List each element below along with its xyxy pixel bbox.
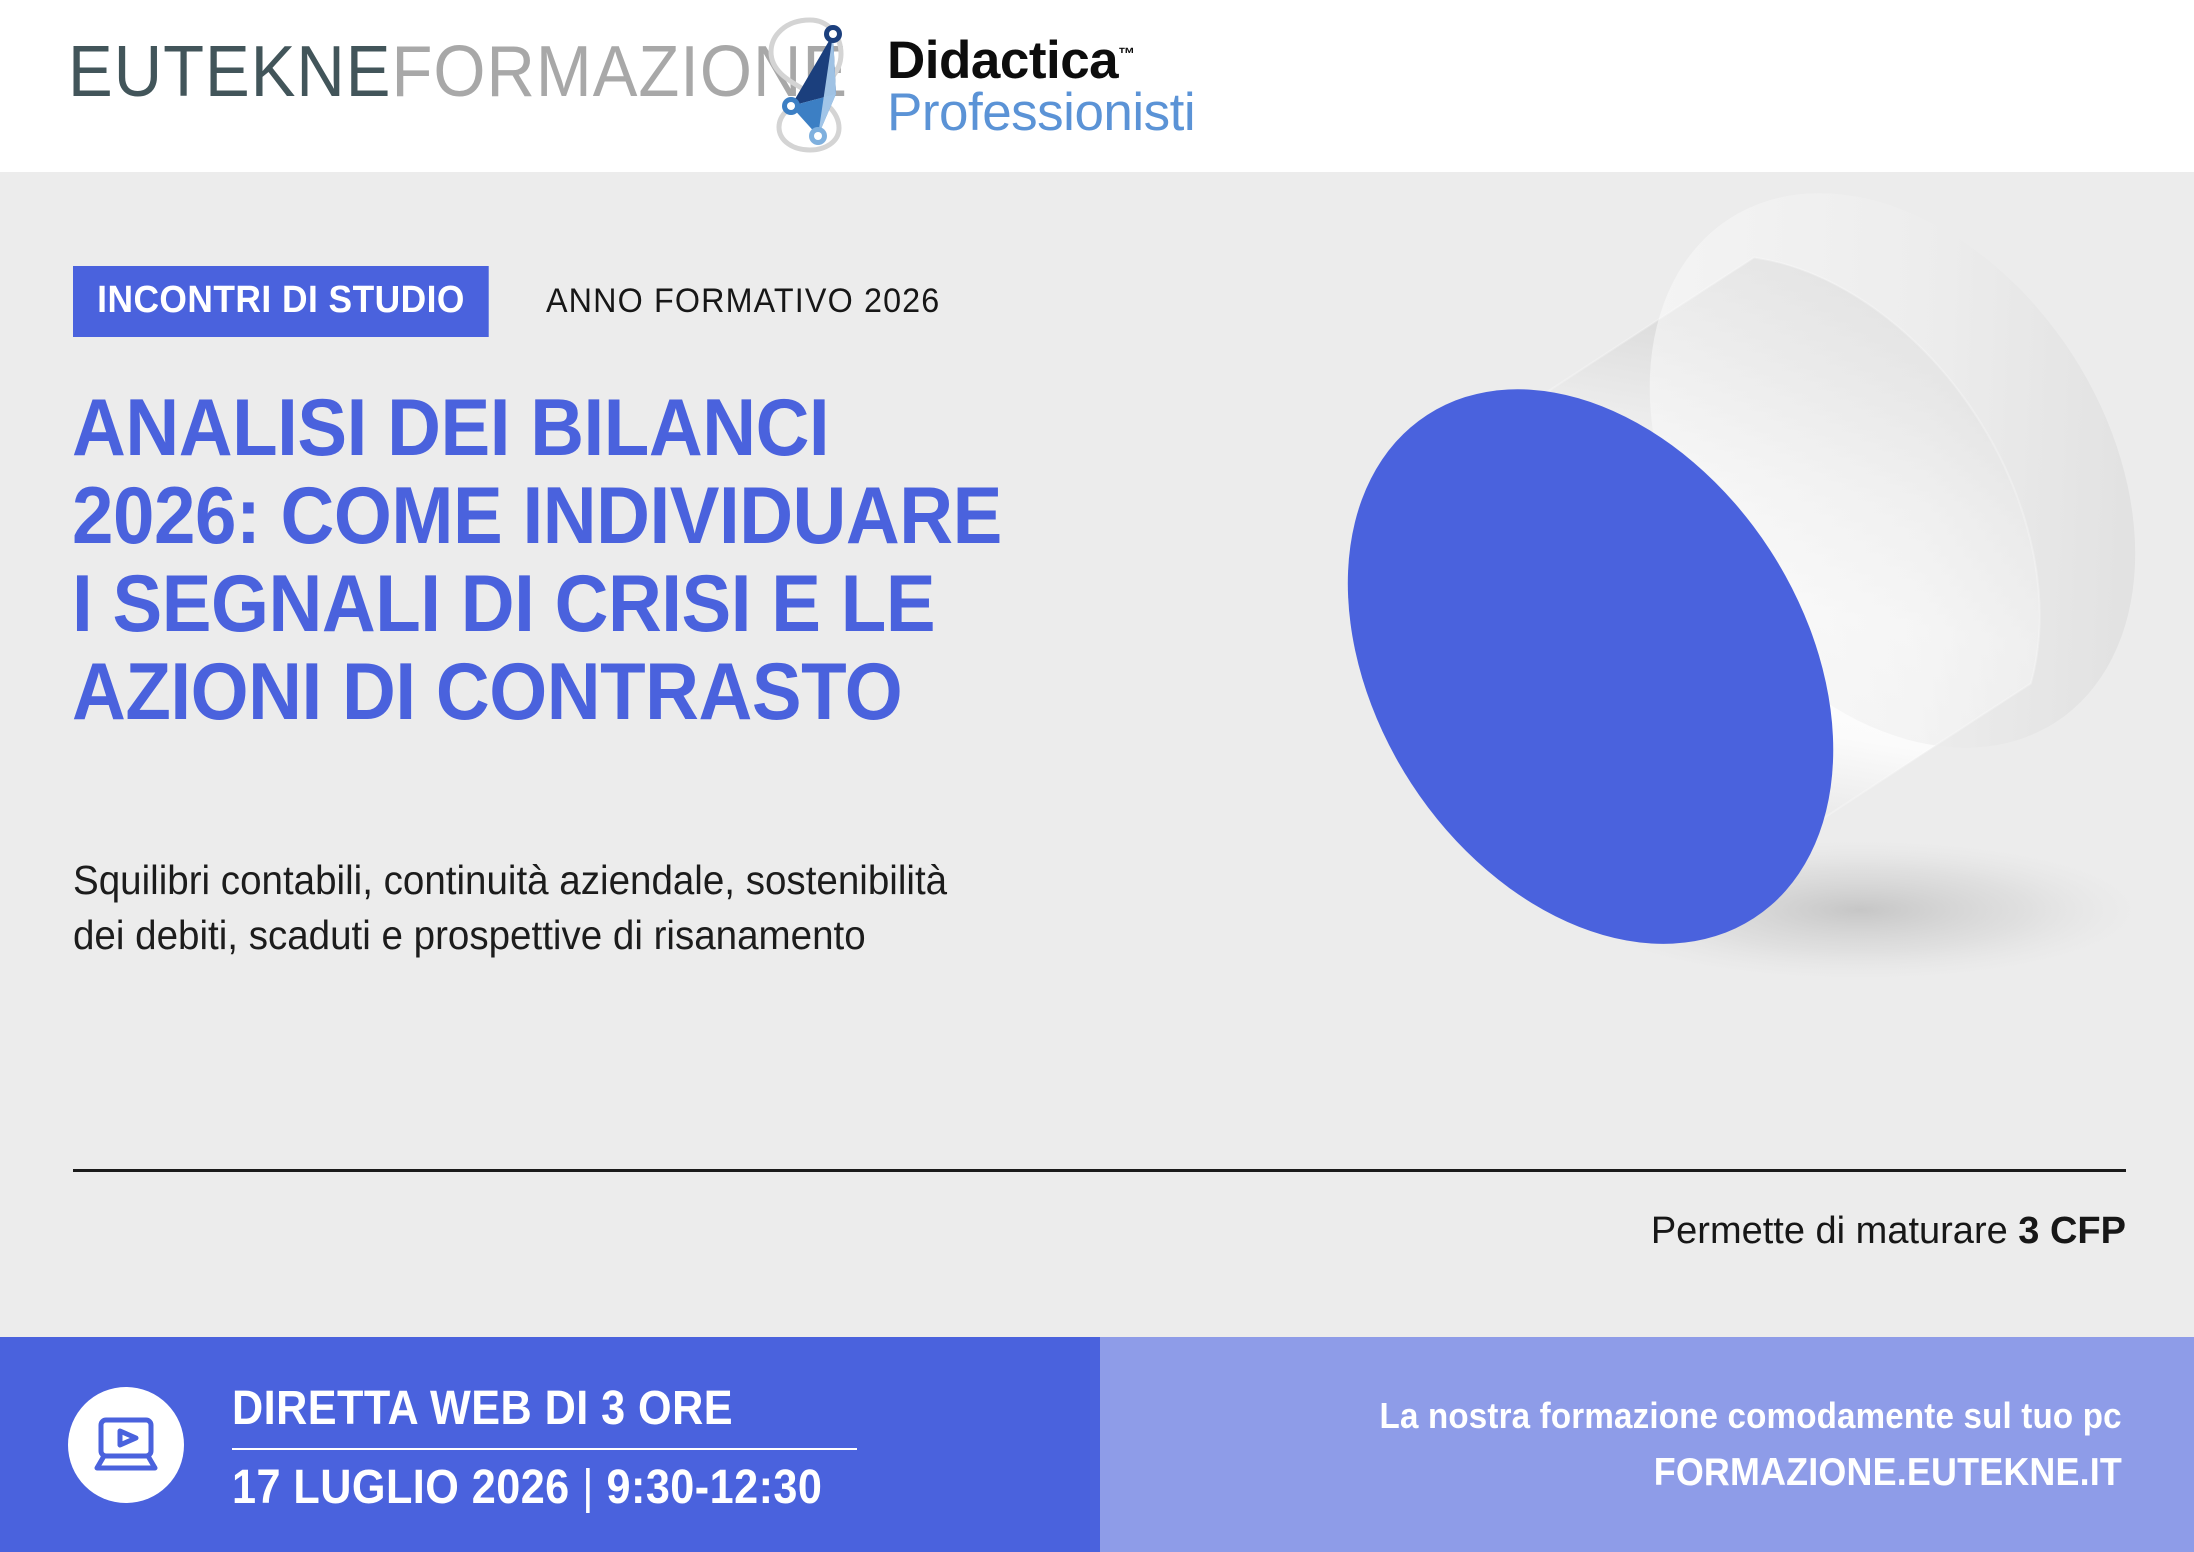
page-subtitle: Squilibri contabili, continuità aziendal… — [73, 853, 1373, 963]
didactica-trademark: ™ — [1118, 44, 1135, 63]
laptop-play-glyph — [87, 1406, 165, 1484]
eutekne-brand-text: EUTEKNE — [68, 35, 391, 107]
datetime-separator: | — [570, 1460, 607, 1515]
subtitle-line-2: dei debiti, scaduti e prospettive di ris… — [73, 908, 1295, 963]
footer-rule — [232, 1448, 857, 1450]
cfp-value: 3 CFP — [2018, 1210, 2126, 1252]
event-format-label: DIRETTA WEB DI 3 ORE — [232, 1381, 822, 1436]
cylinder-illustration — [1340, 120, 2194, 980]
title-line-3: I SEGNALI DI CRISI E LE — [72, 561, 1222, 649]
didactica-logo: Didactica™ Professionisti — [735, 8, 1155, 163]
footer-tagline: La nostra formazione comodamente sul tuo… — [1380, 1395, 2122, 1437]
didactica-ampersand-icon — [735, 8, 885, 158]
training-year-label: ANNO FORMATIVO 2026 — [546, 282, 940, 321]
cfp-prefix: Permette di maturare — [1651, 1210, 2018, 1252]
event-date-label: 17 LUGLIO 2026 — [232, 1461, 570, 1514]
didactica-text-block: Didactica™ Professionisti — [887, 36, 1195, 138]
title-line-2: 2026: COME INDIVIDUARE — [72, 473, 1222, 561]
badge-row: INCONTRI DI STUDIO ANNO FORMATIVO 2026 — [73, 266, 961, 337]
footer-website-url[interactable]: FORMAZIONE.EUTEKNE.IT — [1654, 1451, 2122, 1495]
didactica-name: Didactica™ — [887, 36, 1195, 86]
horizontal-divider — [73, 1169, 2126, 1172]
didactica-subtitle: Professionisti — [887, 88, 1195, 138]
page-title: ANALISI DEI BILANCI 2026: COME INDIVIDUA… — [72, 385, 1322, 737]
eutekne-wordmark: EUTEKNEFORMAZIONE — [68, 38, 848, 105]
footer-bar: DIRETTA WEB DI 3 ORE 17 LUGLIO 2026|9:30… — [0, 1337, 2194, 1552]
event-time-label: 9:30-12:30 — [607, 1461, 823, 1514]
event-datetime: 17 LUGLIO 2026|9:30-12:30 — [232, 1460, 822, 1515]
hero-cylinder-graphic — [1340, 120, 2194, 980]
header-bar: EUTEKNEFORMAZIONE — [0, 0, 2194, 172]
title-line-1: ANALISI DEI BILANCI — [72, 385, 1222, 473]
subtitle-line-1: Squilibri contabili, continuità aziendal… — [73, 853, 1295, 908]
promotional-poster: EUTEKNEFORMAZIONE — [0, 0, 2194, 1552]
footer-right-panel: La nostra formazione comodamente sul tuo… — [1100, 1337, 2194, 1552]
footer-left-panel: DIRETTA WEB DI 3 ORE 17 LUGLIO 2026|9:30… — [0, 1337, 1100, 1552]
didactica-name-text: Didactica — [887, 31, 1118, 90]
eutekne-logo: EUTEKNEFORMAZIONE — [68, 38, 848, 105]
title-line-4: AZIONI DI CONTRASTO — [72, 649, 1222, 737]
laptop-play-icon — [68, 1387, 184, 1503]
footer-event-details: DIRETTA WEB DI 3 ORE 17 LUGLIO 2026|9:30… — [232, 1381, 888, 1515]
category-badge: INCONTRI DI STUDIO — [73, 266, 489, 337]
cfp-credits: Permette di maturare 3 CFP — [1651, 1210, 2126, 1253]
